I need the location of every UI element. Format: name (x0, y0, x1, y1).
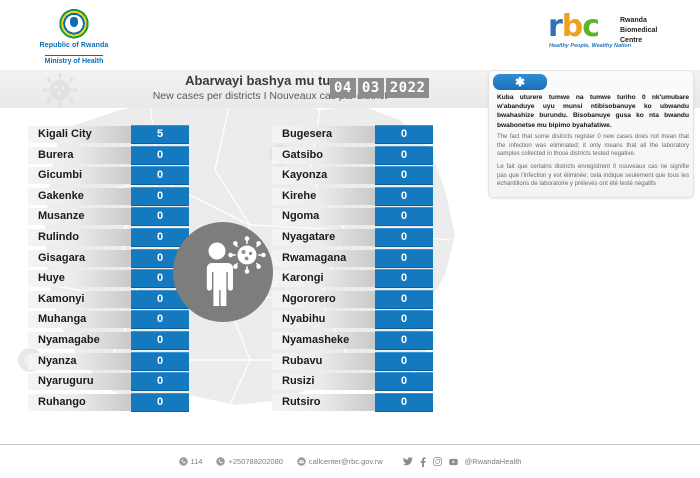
footer-phone-short-label: 114 (191, 457, 203, 466)
district-row: Rwamagana0 (272, 250, 433, 267)
center-graphic (173, 222, 273, 322)
district-row: Rutsiro0 (272, 394, 433, 411)
footer-email-label: callcenter@rbc.gov.rw (309, 457, 383, 466)
district-row: Gisagara0 (28, 250, 189, 267)
district-list-right: Bugesera0Gatsibo0Kayonza0Kirehe0Ngoma0Ny… (272, 126, 433, 414)
twitter-icon[interactable] (403, 457, 413, 466)
footer-social-handle[interactable]: @RwandaHealth (465, 457, 522, 466)
rbc-name-line-1: Rwanda (620, 16, 657, 26)
district-case-count: 0 (375, 228, 433, 247)
district-row: Musanze0 (28, 208, 189, 225)
rbc-org-name: Rwanda Biomedical Centre (620, 16, 657, 46)
district-row: Burera0 (28, 147, 189, 164)
district-row: Kirehe0 (272, 188, 433, 205)
rbc-name-line-2: Biomedical (620, 26, 657, 36)
district-row: Ngororero0 (272, 291, 433, 308)
district-name: Nyamasheke (272, 332, 375, 349)
asterisk-icon: ✱ (515, 76, 525, 88)
district-row: Nyaruguru0 (28, 373, 189, 390)
district-name: Nyabihu (272, 311, 375, 328)
date-day: 04 (330, 78, 356, 98)
disclaimer-english: The fact that some districts register 0 … (497, 133, 689, 159)
district-name: Rusizi (272, 373, 375, 390)
phone-icon (179, 457, 188, 466)
district-name: Kayonza (272, 167, 375, 184)
district-case-count: 0 (131, 146, 189, 165)
government-emblem: Republic of Rwanda Ministry of Health (38, 6, 110, 62)
district-row: Gakenke0 (28, 188, 189, 205)
district-row: Muhanga0 (28, 311, 189, 328)
district-case-count: 0 (375, 310, 433, 329)
gov-line-2: Ministry of Health (45, 55, 104, 66)
gov-line-1: Republic of Rwanda (38, 41, 110, 50)
district-case-count: 0 (131, 393, 189, 412)
district-list-left: Kigali City5Burera0Gicumbi0Gakenke0Musan… (28, 126, 189, 414)
district-row: Gatsibo0 (272, 147, 433, 164)
footer-phone-short[interactable]: 114 (179, 457, 203, 466)
district-name: Rutsiro (272, 394, 375, 411)
rbc-letter-b: b (562, 9, 582, 44)
district-case-count: 0 (375, 290, 433, 309)
district-name: Kamonyi (28, 291, 131, 308)
district-name: Gisagara (28, 250, 131, 267)
district-case-count: 0 (375, 207, 433, 226)
district-case-count: 0 (131, 166, 189, 185)
disclaimer-french: Le fait que certains districts enregistr… (497, 163, 689, 189)
rbc-wordmark: rbc (548, 12, 599, 42)
district-name: Huye (28, 270, 131, 287)
district-case-count: 0 (375, 166, 433, 185)
district-case-count: 0 (131, 352, 189, 371)
district-name: Karongi (272, 270, 375, 287)
district-name: Rwamagana (272, 250, 375, 267)
footer-phone-long-label: +250788202080 (228, 457, 282, 466)
district-case-count: 0 (375, 269, 433, 288)
district-name: Rubavu (272, 353, 375, 370)
district-case-count: 0 (375, 249, 433, 268)
district-row: Ruhango0 (28, 394, 189, 411)
district-name: Ngororero (272, 291, 375, 308)
district-row: Nyamagabe0 (28, 332, 189, 349)
district-row: Rusizi0 (272, 373, 433, 390)
district-name: Muhanga (28, 311, 131, 328)
district-row: Nyanza0 (28, 353, 189, 370)
footer-email[interactable]: callcenter@rbc.gov.rw (297, 457, 383, 466)
district-case-count: 0 (375, 187, 433, 206)
district-case-count: 0 (131, 187, 189, 206)
district-name: Ruhango (28, 394, 131, 411)
virus-icon (228, 236, 266, 274)
disclaimer-kinyarwanda: Kuba uturere tumwe na tumwe turiho 0 nk'… (497, 93, 689, 130)
district-name: Ngoma (272, 208, 375, 225)
district-case-count: 0 (375, 125, 433, 144)
district-name: Gatsibo (272, 147, 375, 164)
district-case-count: 0 (131, 331, 189, 350)
district-case-count: 5 (131, 125, 189, 144)
report-date: 04 03 2022 (330, 78, 429, 98)
district-name: Gakenke (28, 188, 131, 205)
footer-social-group: @RwandaHealth (403, 457, 522, 467)
district-row: Nyamasheke0 (272, 332, 433, 349)
district-case-count: 0 (375, 352, 433, 371)
phone-icon (216, 457, 225, 466)
district-name: Bugesera (272, 126, 375, 143)
rbc-letter-r: r (548, 9, 562, 44)
district-row: Ngoma0 (272, 208, 433, 225)
district-name: Rulindo (28, 229, 131, 246)
district-row: Rulindo0 (28, 229, 189, 246)
district-case-count: 0 (131, 372, 189, 391)
district-row: Kamonyi0 (28, 291, 189, 308)
district-name: Gicumbi (28, 167, 131, 184)
footer-phone-long[interactable]: +250788202080 (216, 457, 282, 466)
rbc-letter-c: c (582, 9, 599, 44)
disclaimer-panel: ✱ Kuba uturere tumwe na tumwe turiho 0 n… (488, 70, 694, 198)
coat-of-arms-icon (57, 6, 91, 40)
district-row: Karongi0 (272, 270, 433, 287)
district-row: Nyagatare0 (272, 229, 433, 246)
district-case-count: 0 (375, 146, 433, 165)
rbc-logo: rbc Healthy People, Wealthy Nation Rwand… (548, 10, 688, 56)
district-name: Nyanza (28, 353, 131, 370)
district-case-count: 0 (375, 393, 433, 412)
district-name: Nyaruguru (28, 373, 131, 390)
instagram-icon[interactable] (433, 457, 442, 466)
district-name: Nyamagabe (28, 332, 131, 349)
district-row: Rubavu0 (272, 353, 433, 370)
facebook-icon[interactable] (420, 457, 426, 467)
panel-tab: ✱ (493, 74, 547, 90)
district-name: Nyagatare (272, 229, 375, 246)
date-month: 03 (358, 78, 384, 98)
mail-icon (297, 457, 306, 466)
district-row: Huye0 (28, 270, 189, 287)
date-year: 2022 (386, 78, 430, 98)
poster-header: Republic of Rwanda Ministry of Health rb… (0, 0, 700, 66)
footer-contact-bar: 114 +250788202080 callcenter@rbc.gov.rw (0, 445, 700, 478)
district-case-count: 0 (375, 372, 433, 391)
district-name: Kirehe (272, 188, 375, 205)
district-row: Bugesera0 (272, 126, 433, 143)
covid-dashboard-poster: Republic of Rwanda Ministry of Health rb… (0, 0, 700, 478)
district-name: Burera (28, 147, 131, 164)
district-row: Kayonza0 (272, 167, 433, 184)
district-name: Musanze (28, 208, 131, 225)
rbc-tagline: Healthy People, Wealthy Nation (549, 43, 631, 49)
district-name: Kigali City (28, 126, 131, 143)
district-case-count: 0 (375, 331, 433, 350)
virus-icon (40, 72, 80, 108)
district-row: Gicumbi0 (28, 167, 189, 184)
youtube-icon[interactable] (449, 458, 458, 466)
district-row: Nyabihu0 (272, 311, 433, 328)
rbc-name-line-3: Centre (620, 36, 657, 46)
district-row: Kigali City5 (28, 126, 189, 143)
